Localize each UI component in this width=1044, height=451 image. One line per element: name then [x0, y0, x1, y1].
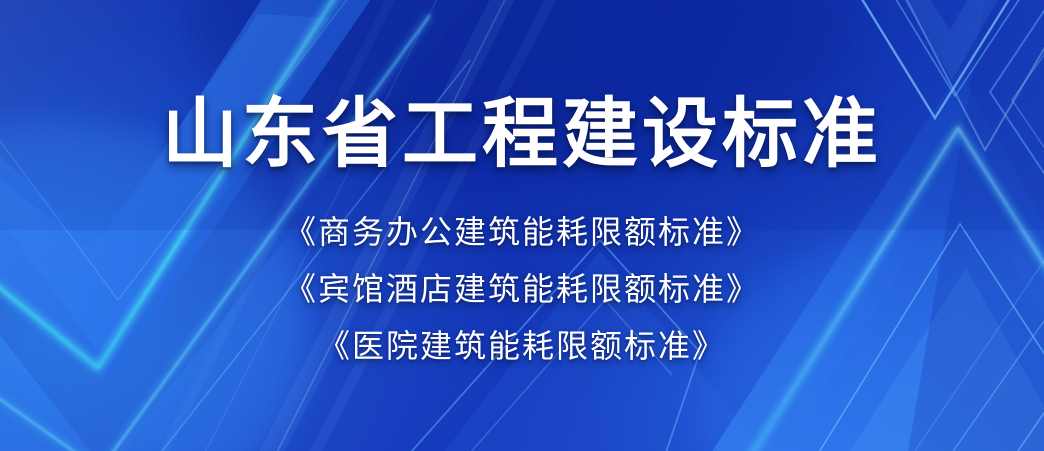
standard-item-hotel: 《宾馆酒店建筑能耗限额标准》 [284, 273, 760, 305]
standard-item-commercial-office: 《商务办公建筑能耗限额标准》 [284, 216, 760, 248]
banner-title: 山东省工程建设标准 [162, 96, 882, 172]
promo-banner: 山东省工程建设标准 《商务办公建筑能耗限额标准》 《宾馆酒店建筑能耗限额标准》 … [0, 0, 1044, 451]
standards-list: 《商务办公建筑能耗限额标准》 《宾馆酒店建筑能耗限额标准》 《医院建筑能耗限额标… [284, 216, 760, 362]
standard-item-hospital: 《医院建筑能耗限额标准》 [318, 330, 726, 362]
banner-content: 山东省工程建设标准 《商务办公建筑能耗限额标准》 《宾馆酒店建筑能耗限额标准》 … [0, 0, 1044, 451]
